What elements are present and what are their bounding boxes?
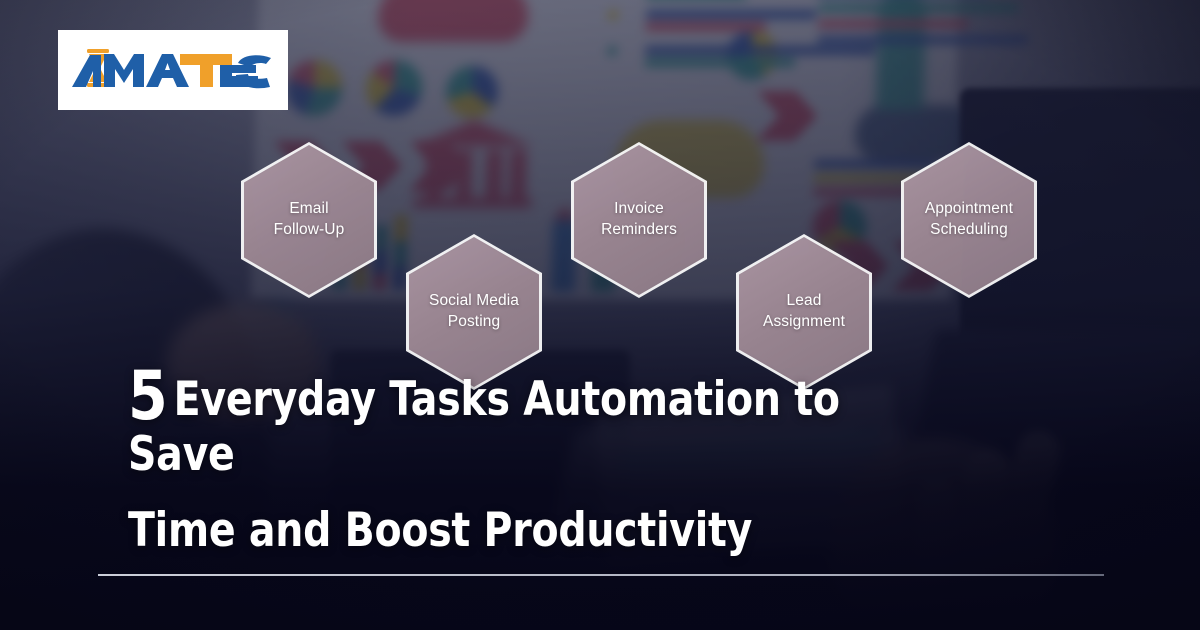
amatec-logo[interactable] [58, 30, 288, 110]
hex-social-media-posting[interactable]: Social Media Posting [406, 234, 542, 390]
hex-appointment-scheduling[interactable]: Appointment Scheduling [901, 142, 1037, 298]
hex-label-line1: Lead [787, 292, 822, 309]
hex-label-line1: Email [289, 200, 328, 217]
hex-label: Appointment Scheduling [917, 199, 1021, 241]
headline: 5Everyday Tasks Automation to Save Time … [128, 372, 926, 558]
hex-label: Social Media Posting [421, 291, 527, 333]
headline-number: 5 [128, 357, 174, 436]
amatec-logo-mark [70, 45, 276, 95]
hex-label-line2: Posting [448, 313, 500, 330]
hex-label-line1: Social Media [429, 292, 519, 309]
hex-label: Invoice Reminders [593, 199, 685, 241]
headline-divider [98, 574, 1104, 576]
hex-invoice-reminders[interactable]: Invoice Reminders [571, 142, 707, 298]
hex-label-line2: Follow-Up [274, 221, 345, 238]
hex-email-follow-up[interactable]: Email Follow-Up [241, 142, 377, 298]
hex-label-line1: Appointment [925, 200, 1013, 217]
headline-line1: Everyday Tasks Automation to Save [128, 372, 840, 482]
hex-label-line2: Assignment [763, 313, 845, 330]
hex-label: Lead Assignment [755, 291, 853, 333]
hex-label-line2: Reminders [601, 221, 677, 238]
headline-line2: Time and Boost Productivity [128, 503, 926, 558]
hex-label: Email Follow-Up [266, 199, 353, 241]
banner-canvas: Email Follow-Up Social Media Posting Inv… [0, 0, 1200, 630]
hex-label-line1: Invoice [614, 200, 664, 217]
hex-label-line2: Scheduling [930, 221, 1008, 238]
hex-lead-assignment[interactable]: Lead Assignment [736, 234, 872, 390]
